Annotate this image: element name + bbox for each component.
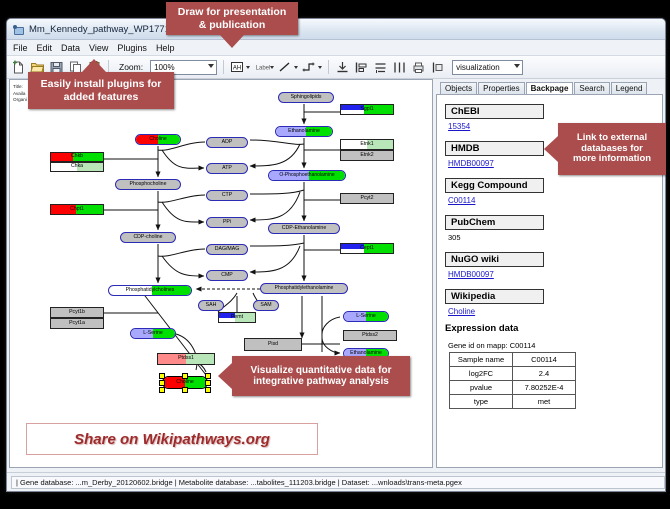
node-label: Etnk1 bbox=[360, 142, 373, 147]
node-ptdss2[interactable]: Ptdss2 bbox=[343, 330, 397, 341]
callout-line-2: & publication bbox=[199, 19, 266, 31]
zoom-value: 100% bbox=[154, 63, 174, 72]
node-ctp[interactable]: CTP bbox=[206, 190, 248, 201]
expression-data-heading: Expression data bbox=[445, 323, 654, 334]
table-row: log2FC 2.4 bbox=[450, 367, 576, 381]
node-o-phosphoethanolamine[interactable]: O-Phosphoethanolamine bbox=[268, 170, 346, 181]
status-text: | Gene database: ...m_Derby_20120602.bri… bbox=[11, 476, 665, 489]
node-cdp-choline[interactable]: CDP-choline bbox=[120, 232, 176, 243]
expression-table: Sample name C00114 log2FC 2.4 pvalue 7.8… bbox=[449, 352, 576, 409]
align-left-icon[interactable] bbox=[354, 60, 369, 75]
label-tool-group[interactable]: Label bbox=[254, 60, 274, 75]
db-link-nugo-wiki[interactable]: HMDB00097 bbox=[448, 270, 654, 279]
node-pemt[interactable]: Pemt bbox=[218, 312, 256, 323]
node-label: L-Serine bbox=[356, 314, 376, 319]
share-text: Share on Wikipathways.org bbox=[74, 431, 270, 448]
node-label: PPi bbox=[223, 220, 231, 225]
tab-legend[interactable]: Legend bbox=[611, 82, 648, 94]
new-file-icon[interactable] bbox=[11, 60, 26, 75]
chevron-down-icon bbox=[208, 64, 214, 68]
tab-properties[interactable]: Properties bbox=[478, 82, 524, 94]
node-ppi[interactable]: PPi bbox=[206, 217, 248, 228]
shape-tool-group[interactable]: AH bbox=[230, 60, 250, 75]
callout-line-3: more information bbox=[573, 154, 651, 165]
node-cmp[interactable]: CMP bbox=[206, 270, 248, 281]
node-label: Ptdss1 bbox=[178, 356, 194, 361]
chevron-down-icon-shape[interactable] bbox=[246, 66, 250, 69]
node-pcyt2[interactable]: Pcyt2 bbox=[340, 193, 394, 204]
node-label: Chpt1 bbox=[70, 207, 84, 212]
node-pcyt1a[interactable]: Pcyt1a bbox=[50, 318, 104, 329]
db-header-pubchem: PubChem bbox=[445, 215, 544, 230]
node-label: ADP bbox=[222, 140, 233, 145]
node-label: Sgpl1 bbox=[360, 107, 373, 112]
callout-line-1: Draw for presentation bbox=[178, 6, 287, 18]
callout-share-wikipathways: Share on Wikipathways.org bbox=[26, 423, 318, 455]
selection-handle-nw[interactable] bbox=[159, 373, 165, 379]
node-chkb[interactable]: Chkb bbox=[50, 152, 104, 162]
node-phosphatidylcholines[interactable]: Phosphatidylcholines bbox=[108, 285, 192, 296]
chevron-down-icon-connector[interactable] bbox=[318, 66, 322, 69]
node-l-serine-left[interactable]: L-Serine bbox=[130, 328, 176, 339]
node-phosphatidylethanolamine[interactable]: Phosphatidylethanolamine bbox=[260, 283, 348, 294]
menu-plugins[interactable]: Plugins bbox=[117, 43, 147, 53]
node-etnk1[interactable]: Etnk1 bbox=[340, 139, 394, 150]
node-phosphocholine[interactable]: Phosphocholine bbox=[115, 179, 181, 190]
align-top-icon[interactable] bbox=[335, 60, 350, 75]
node-ptdss1[interactable]: Ptdss1 bbox=[157, 353, 215, 365]
node-atp[interactable]: ATP bbox=[206, 163, 248, 174]
shape-icon[interactable]: AH bbox=[230, 60, 245, 75]
node-label: SAH bbox=[206, 303, 217, 308]
callout-easily-install-plugins: Easily install plugins for added feature… bbox=[28, 72, 174, 109]
expr-key: pvalue bbox=[450, 381, 513, 395]
selection-handle-e[interactable] bbox=[205, 380, 211, 386]
selection-handle-w[interactable] bbox=[159, 380, 165, 386]
node-sphingolipids[interactable]: Sphingolipids bbox=[278, 92, 334, 103]
toolbar-separator-3 bbox=[328, 60, 329, 74]
distribute-icon[interactable] bbox=[392, 60, 407, 75]
node-label: Etnk2 bbox=[360, 153, 373, 158]
db-value-pubchem: 305 bbox=[448, 233, 654, 242]
node-dag-mag[interactable]: DAG/MAG bbox=[206, 244, 248, 255]
title-bar: Mm_Kennedy_pathway_WP1771_45176.gpml bbox=[7, 19, 665, 40]
node-sgpl1[interactable]: Sgpl1 bbox=[340, 104, 394, 115]
menu-file[interactable]: File bbox=[13, 43, 28, 53]
line-tool-group[interactable] bbox=[278, 60, 298, 75]
callout-line-2: added features bbox=[64, 91, 139, 103]
callout-link-arrow bbox=[544, 136, 558, 162]
node-adp[interactable]: ADP bbox=[206, 137, 248, 148]
node-label: CTP bbox=[222, 193, 232, 198]
tab-objects[interactable]: Objects bbox=[440, 82, 477, 94]
node-label: ATP bbox=[222, 166, 232, 171]
table-row: type met bbox=[450, 395, 576, 409]
callout-plugins-arrow bbox=[82, 59, 106, 72]
node-etnk2[interactable]: Etnk2 bbox=[340, 150, 394, 161]
zoom-label: Zoom: bbox=[119, 62, 143, 72]
expr-value: C00114 bbox=[513, 353, 576, 367]
visualization-combo[interactable]: visualization bbox=[452, 60, 523, 75]
menu-data[interactable]: Data bbox=[61, 43, 80, 53]
gene-id-label: Gene id on mapp: C00114 bbox=[448, 341, 654, 350]
group-icon[interactable] bbox=[430, 60, 445, 75]
node-label: Chka bbox=[71, 164, 83, 169]
node-label: Ethanolamine bbox=[350, 351, 382, 356]
pathway-drawing[interactable]: Title: Availa Organi bbox=[10, 80, 432, 467]
node-label: CMP bbox=[221, 273, 233, 278]
node-label: Pcyt1b bbox=[69, 310, 85, 315]
node-label: Ethanolamine bbox=[288, 129, 320, 134]
expr-key: type bbox=[450, 395, 513, 409]
node-label: CDP-Ethanolamine bbox=[282, 226, 326, 231]
node-label: CDP-choline bbox=[133, 235, 162, 240]
connector-tool-group[interactable] bbox=[302, 60, 322, 75]
node-label: L-Serine bbox=[143, 331, 163, 336]
connector-icon[interactable] bbox=[302, 60, 317, 75]
selection-handle-s[interactable] bbox=[182, 387, 188, 393]
callout-draw-arrow bbox=[220, 35, 244, 48]
node-pisd[interactable]: Pisd bbox=[244, 338, 302, 351]
table-row: pvalue 7.80252E-4 bbox=[450, 381, 576, 395]
app-icon bbox=[13, 24, 24, 35]
toolbar-separator-2 bbox=[223, 60, 224, 74]
db-link-wikipedia[interactable]: Choline bbox=[448, 307, 654, 316]
status-bar: | Gene database: ...m_Derby_20120602.bri… bbox=[7, 472, 665, 491]
svg-text:AH: AH bbox=[233, 65, 241, 71]
svg-text:Label: Label bbox=[256, 65, 271, 71]
callout-line-1: Link to external bbox=[577, 133, 647, 144]
db-header-chebi: ChEBI bbox=[445, 104, 544, 119]
node-label: Pemt bbox=[231, 315, 243, 320]
node-label: Cept1 bbox=[360, 246, 374, 251]
node-label: Sphingolipids bbox=[291, 95, 322, 100]
expr-value: 2.4 bbox=[513, 367, 576, 381]
table-row: Sample name C00114 bbox=[450, 353, 576, 367]
label-icon[interactable]: Label bbox=[254, 60, 269, 75]
node-sah[interactable]: SAH bbox=[198, 300, 224, 311]
side-tab-bar: Objects Properties Backpage Search Legen… bbox=[436, 79, 663, 94]
node-label: Phosphatidylethanolamine bbox=[275, 286, 334, 291]
node-label: DAG/MAG bbox=[215, 247, 240, 252]
callout-draw-for-presentation: Draw for presentation & publication bbox=[166, 2, 298, 35]
callout-link-external-databases: Link to external databases for more info… bbox=[558, 123, 666, 175]
menu-edit[interactable]: Edit bbox=[37, 43, 53, 53]
node-choline-top[interactable]: Choline bbox=[135, 134, 181, 145]
callout-visualize-arrow bbox=[218, 363, 232, 389]
node-label: Pcyt1a bbox=[69, 321, 85, 326]
selection-handle-se[interactable] bbox=[205, 387, 211, 393]
node-label: Pisd bbox=[268, 342, 278, 347]
node-label: SAM bbox=[260, 303, 271, 308]
node-label: Ptdss2 bbox=[362, 333, 378, 338]
db-header-wikipedia: Wikipedia bbox=[445, 289, 544, 304]
node-label: Phosphatidylcholines bbox=[126, 288, 175, 293]
node-label: Chkb bbox=[71, 154, 83, 159]
menu-view[interactable]: View bbox=[89, 43, 108, 53]
node-pcyt1b[interactable]: Pcyt1b bbox=[50, 307, 104, 318]
node-ethanolamine-top[interactable]: Ethanolamine bbox=[275, 126, 333, 137]
node-label: Choline bbox=[149, 137, 167, 142]
expr-value: met bbox=[513, 395, 576, 409]
screenshot-root: Mm_Kennedy_pathway_WP1771_45176.gpml Fil… bbox=[0, 0, 670, 509]
menu-help[interactable]: Help bbox=[156, 43, 175, 53]
node-l-serine-right[interactable]: L-Serine bbox=[343, 311, 389, 322]
menu-bar: File Edit Data View Plugins Help bbox=[7, 40, 665, 56]
db-header-nugo-wiki: NuGO wiki bbox=[445, 252, 544, 267]
node-label: Choline bbox=[176, 380, 194, 385]
node-label: Phosphocholine bbox=[130, 182, 167, 187]
expr-key: Sample name bbox=[450, 353, 513, 367]
node-cept1[interactable]: Cept1 bbox=[340, 243, 394, 254]
tab-search[interactable]: Search bbox=[574, 82, 609, 94]
db-header-kegg-compound: Kegg Compound bbox=[445, 178, 544, 193]
node-label: O-Phosphoethanolamine bbox=[279, 173, 334, 178]
db-header-hmdb: HMDB bbox=[445, 141, 544, 156]
node-chka[interactable]: Chka bbox=[50, 162, 104, 172]
pathway-canvas[interactable]: Title: Availa Organi bbox=[9, 79, 433, 468]
selection-handle-sw[interactable] bbox=[159, 387, 165, 393]
visualization-value: visualization bbox=[456, 63, 500, 72]
stack-icon[interactable] bbox=[373, 60, 388, 75]
node-sam[interactable]: SAM bbox=[253, 300, 279, 311]
callout-line-2: integrative pathway analysis bbox=[253, 376, 389, 388]
chevron-down-icon-line[interactable] bbox=[294, 66, 298, 69]
node-label: Pcyt2 bbox=[361, 196, 374, 201]
print-icon[interactable] bbox=[411, 60, 426, 75]
chevron-down-icon-vis bbox=[514, 64, 520, 68]
line-icon[interactable] bbox=[278, 60, 293, 75]
callout-line-1: Visualize quantitative data for bbox=[251, 365, 392, 377]
db-link-kegg-compound[interactable]: C00114 bbox=[448, 196, 654, 205]
node-cdp-ethanolamine[interactable]: CDP-Ethanolamine bbox=[268, 223, 340, 234]
expr-value: 7.80252E-4 bbox=[513, 381, 576, 395]
selection-handle-ne[interactable] bbox=[205, 373, 211, 379]
expr-key: log2FC bbox=[450, 367, 513, 381]
callout-line-1: Easily install plugins for bbox=[41, 78, 162, 90]
callout-visualize-quantitative-data: Visualize quantitative data for integrat… bbox=[232, 356, 410, 396]
node-chpt1[interactable]: Chpt1 bbox=[50, 204, 104, 215]
